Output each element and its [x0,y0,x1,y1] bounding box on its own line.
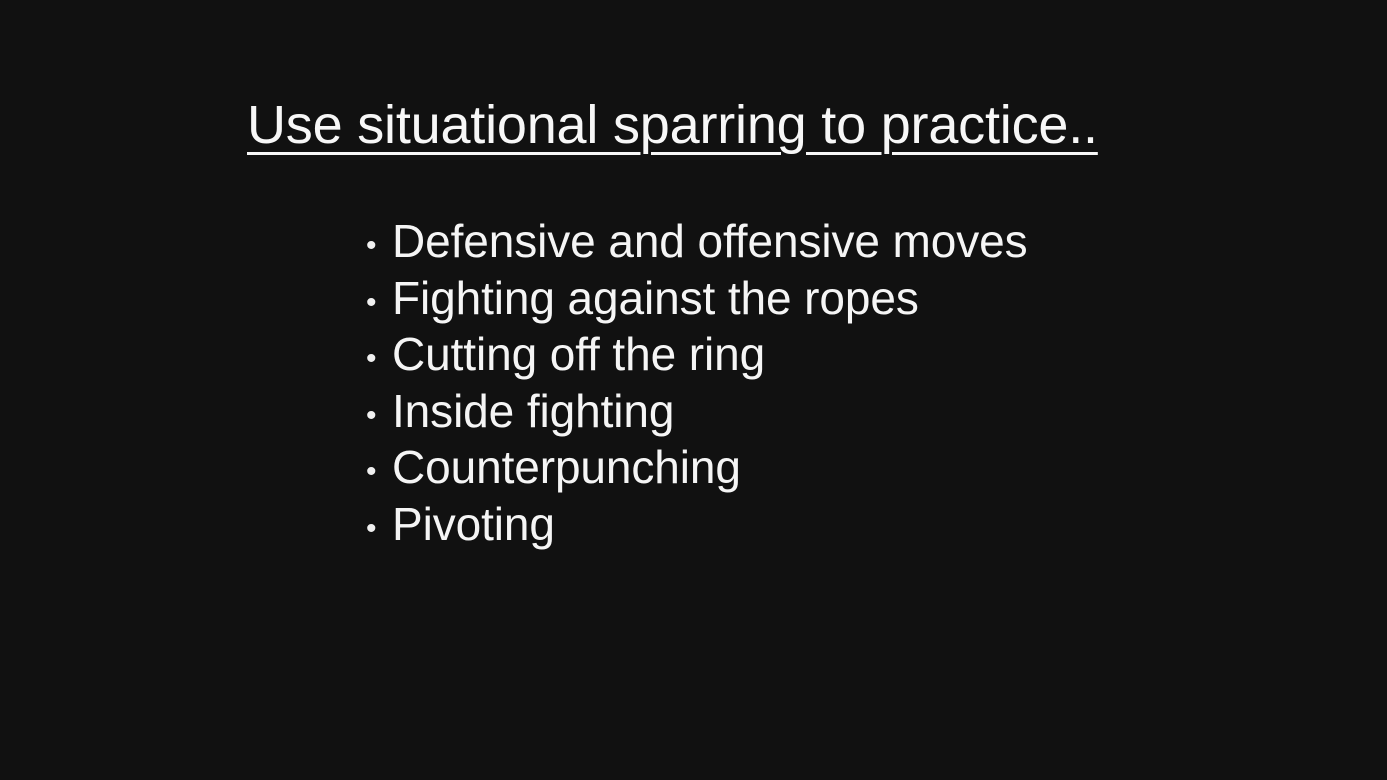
list-item-label: Cutting off the ring [392,326,765,383]
bullet-dot-icon: • [366,444,392,501]
bullet-dot-icon: • [366,275,392,332]
list-item-label: Defensive and offensive moves [392,213,1028,270]
list-item-label: Fighting against the ropes [392,270,919,327]
list-item: • Fighting against the ropes [366,270,1266,327]
list-item-label: Inside fighting [392,383,674,440]
page-title: Use situational sparring to practice.. [247,93,1147,157]
list-item: • Pivoting [366,496,1266,553]
bullet-dot-icon: • [366,331,392,388]
bullet-dot-icon: • [366,218,392,275]
list-item: • Defensive and offensive moves [366,213,1266,270]
list-item: • Inside fighting [366,383,1266,440]
slide-canvas: Use situational sparring to practice.. •… [0,0,1387,780]
bullet-dot-icon: • [366,388,392,445]
list-item-label: Counterpunching [392,439,741,496]
list-item: • Counterpunching [366,439,1266,496]
bullet-dot-icon: • [366,501,392,558]
bullet-list: • Defensive and offensive moves • Fighti… [366,213,1266,552]
list-item: • Cutting off the ring [366,326,1266,383]
list-item-label: Pivoting [392,496,555,553]
